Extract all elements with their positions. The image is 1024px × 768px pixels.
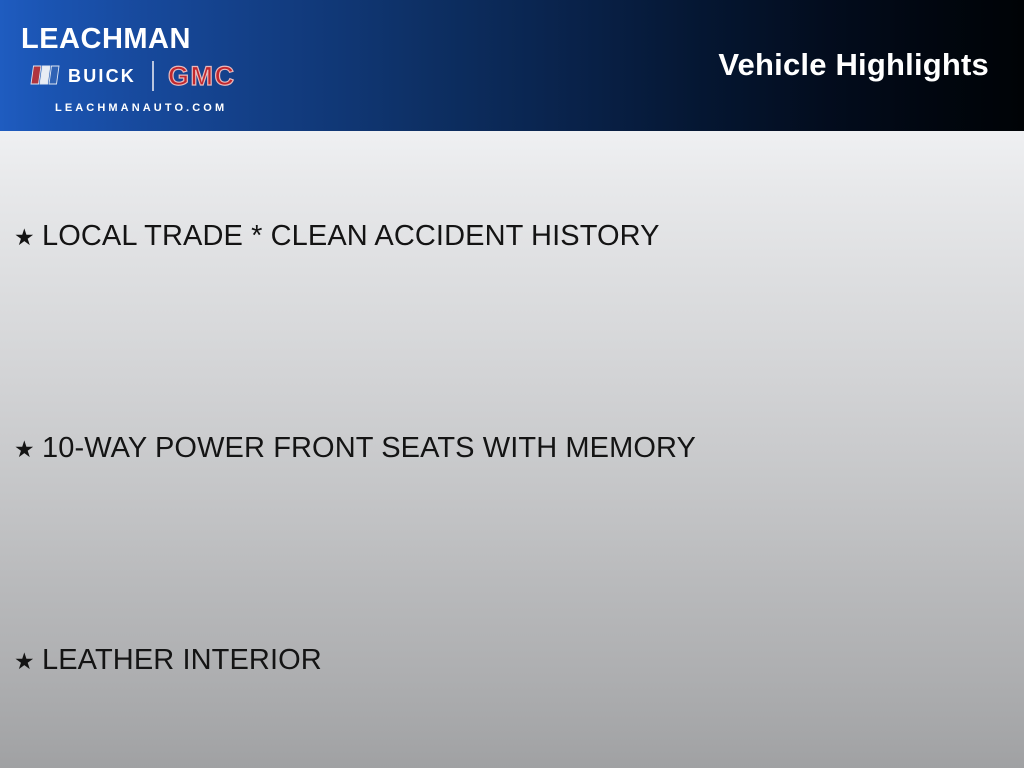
- list-item: ★ LOCAL TRADE * CLEAN ACCIDENT HISTORY: [14, 220, 660, 253]
- dealer-wordmark: Leachman: [21, 13, 293, 55]
- star-bullet-icon: ★: [14, 433, 42, 465]
- dealer-logo[interactable]: Leachman BUICK GMC LEACHMANAUTO.COM: [21, 13, 293, 121]
- brand-divider: [152, 61, 154, 91]
- dealer-website-url[interactable]: LEACHMANAUTO.COM: [21, 102, 293, 114]
- highlight-text: LOCAL TRADE * CLEAN ACCIDENT HISTORY: [42, 220, 660, 252]
- highlights-body: ★ LOCAL TRADE * CLEAN ACCIDENT HISTORY ★…: [0, 131, 1024, 768]
- gmc-label: GMC: [168, 61, 236, 91]
- vehicle-highlights-page: Leachman BUICK GMC LEACHMANAUTO.COM: [0, 0, 1024, 768]
- list-item: ★ LEATHER INTERIOR: [14, 644, 322, 677]
- star-bullet-icon: ★: [14, 645, 42, 677]
- brand-row: BUICK GMC: [21, 59, 293, 93]
- highlight-text: 10-WAY POWER FRONT SEATS WITH MEMORY: [42, 432, 696, 464]
- list-item: ★ 10-WAY POWER FRONT SEATS WITH MEMORY: [14, 432, 696, 465]
- page-title: Vehicle Highlights: [718, 47, 989, 83]
- page-header: Leachman BUICK GMC LEACHMANAUTO.COM: [0, 0, 1024, 131]
- buick-label: BUICK: [68, 66, 136, 87]
- star-bullet-icon: ★: [14, 221, 42, 253]
- highlight-text: LEATHER INTERIOR: [42, 644, 322, 676]
- buick-tri-shield-icon: [29, 65, 63, 87]
